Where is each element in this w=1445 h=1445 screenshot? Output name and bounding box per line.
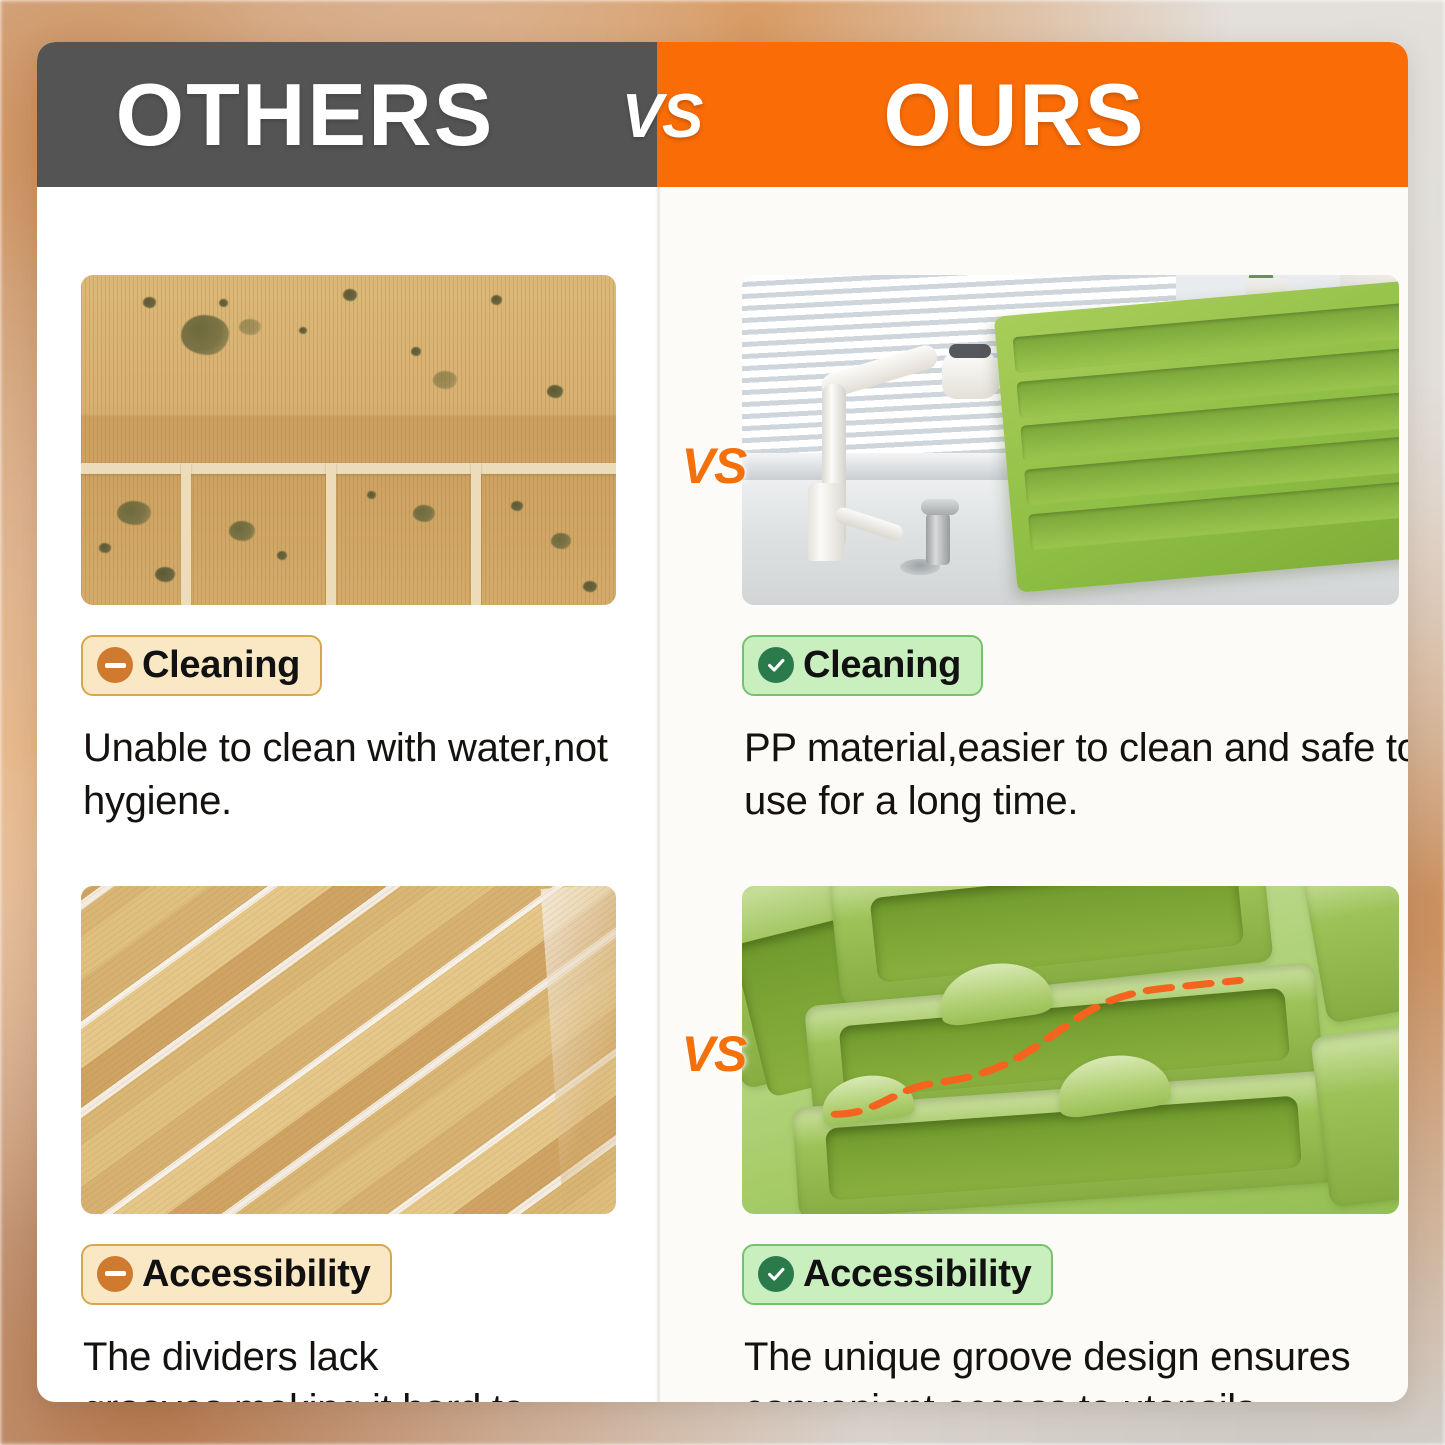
header-others-title: OTHERS xyxy=(116,71,495,159)
header-ours-section: OURS xyxy=(657,42,1408,187)
others-cleaning-badge: Cleaning xyxy=(81,635,322,696)
header-ours-title: OURS xyxy=(883,71,1145,159)
others-cleaning-panel: Cleaning Unable to clean with water,not … xyxy=(37,275,657,828)
others-cleaning-image xyxy=(81,275,616,605)
minus-circle-icon xyxy=(97,647,133,683)
others-cleaning-badge-wrap: Cleaning xyxy=(81,635,657,696)
header-others-section: OTHERS xyxy=(37,42,657,187)
check-circle-icon xyxy=(758,1256,794,1292)
ours-accessibility-panel: Accessibility The unique groove design e… xyxy=(661,886,1408,1402)
ours-cleaning-image xyxy=(742,275,1399,605)
ours-accessibility-description: The unique groove design ensures conveni… xyxy=(744,1331,1408,1402)
row-2-vs-marker: VS xyxy=(678,1018,750,1090)
others-accessibility-image xyxy=(81,886,616,1214)
ours-accessibility-badge-wrap: Accessibility xyxy=(742,1244,1408,1305)
others-accessibility-description: The dividers lack grooves,making it hard… xyxy=(83,1331,623,1402)
ours-cleaning-badge: Cleaning xyxy=(742,635,983,696)
ours-cleaning-panel: Cleaning PP material,easier to clean and… xyxy=(661,275,1408,828)
minus-circle-icon xyxy=(97,1256,133,1292)
others-accessibility-badge-wrap: Accessibility xyxy=(81,1244,657,1305)
others-accessibility-badge: Accessibility xyxy=(81,1244,392,1305)
ours-accessibility-image xyxy=(742,886,1399,1214)
others-column: Cleaning Unable to clean with water,not … xyxy=(37,187,657,1402)
row-1-vs-marker: VS xyxy=(678,430,750,502)
others-accessibility-panel: Accessibility The dividers lack grooves,… xyxy=(37,886,657,1402)
check-circle-icon xyxy=(758,647,794,683)
ours-cleaning-description: PP material,easier to clean and safe to … xyxy=(744,722,1408,828)
others-cleaning-description: Unable to clean with water,not hygiene. xyxy=(83,722,623,828)
others-accessibility-badge-label: Accessibility xyxy=(142,1255,370,1293)
ours-accessibility-badge: Accessibility xyxy=(742,1244,1053,1305)
ours-cleaning-badge-wrap: Cleaning xyxy=(742,635,1408,696)
comparison-card: OTHERS OURS VS VS VS xyxy=(37,42,1408,1402)
ours-column: Cleaning PP material,easier to clean and… xyxy=(661,187,1408,1402)
others-cleaning-badge-label: Cleaning xyxy=(142,646,300,684)
column-divider xyxy=(655,187,661,1402)
ours-cleaning-badge-label: Cleaning xyxy=(803,646,961,684)
ours-accessibility-badge-label: Accessibility xyxy=(803,1255,1031,1293)
comparison-header: OTHERS OURS VS xyxy=(37,42,1408,187)
